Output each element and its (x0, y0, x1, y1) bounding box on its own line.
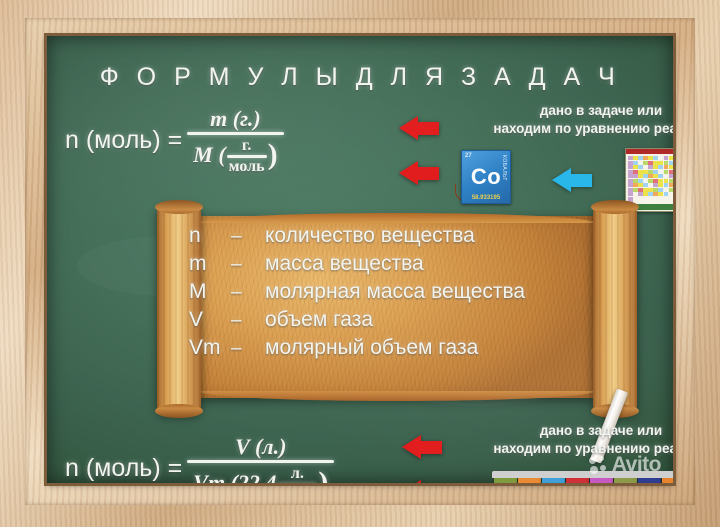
periodic-table-cell (643, 179, 648, 183)
periodic-table-cell (664, 197, 669, 201)
periodic-table-cell (638, 183, 643, 187)
periodic-table-cell (658, 188, 663, 192)
arrow-shaft (417, 167, 439, 180)
standards-block: T (518, 476, 541, 483)
legend-symbol: m (189, 252, 231, 276)
periodic-table-cell (643, 188, 648, 192)
periodic-table-cell (633, 197, 638, 201)
periodic-table-cell (648, 161, 653, 165)
standards-block: D (590, 476, 613, 483)
formula-bottom-lhs: n (моль) (65, 454, 161, 483)
legend-symbol: M (189, 280, 231, 304)
legend-row: M–молярная масса вещества (189, 280, 609, 308)
arrow-left-blue-icon (552, 168, 592, 193)
symbol-legend: n–количество веществаm–масса веществаM–м… (189, 224, 609, 364)
avito-wordmark: Avito (612, 453, 661, 477)
formula-top-denominator: M ( г. моль ) (187, 135, 283, 174)
cobalt-symbol: Co (462, 164, 510, 190)
periodic-table-cell (669, 165, 673, 169)
periodic-table-cell (664, 174, 669, 178)
avito-watermark: Avito (589, 453, 661, 477)
periodic-table-cell (669, 174, 673, 178)
legend-row: m–масса вещества (189, 252, 609, 280)
periodic-table-cell (638, 192, 643, 196)
periodic-table-cell (628, 170, 633, 174)
periodic-table-cell (643, 183, 648, 187)
cobalt-atomic-number: 27 (465, 153, 472, 159)
periodic-table-cell (648, 192, 653, 196)
formula-top-den-prefix: M ( (193, 144, 225, 166)
periodic-table-cell (633, 183, 638, 187)
legend-row: n–количество вещества (189, 224, 609, 252)
periodic-table-cell (658, 156, 663, 160)
periodic-table-cell (653, 192, 658, 196)
periodic-table-cell (633, 188, 638, 192)
legend-definition: молярный объем газа (265, 336, 478, 360)
periodic-table-cell (653, 161, 658, 165)
formula-bottom-fraction: V (л.) Vm (22,4 л. моль ) (187, 436, 334, 483)
periodic-table-cell (638, 174, 643, 178)
periodic-table-title-bar (626, 149, 673, 154)
legend-definition: масса вещества (265, 252, 424, 276)
periodic-table-cell (648, 156, 653, 160)
arrow-head (399, 161, 418, 185)
standards-block: N (566, 476, 589, 483)
periodic-table-cell (628, 192, 633, 196)
periodic-table-cell (664, 156, 669, 160)
legend-symbol: n (189, 224, 231, 248)
cobalt-atomic-mass: 58.933195 (462, 195, 510, 201)
standards-block: A (542, 476, 565, 483)
periodic-table-cell (633, 179, 638, 183)
periodic-table-cell (669, 192, 673, 196)
periodic-table-cell (664, 183, 669, 187)
periodic-table-cell (633, 174, 638, 178)
legend-symbol: Vm (189, 336, 231, 360)
periodic-table-cell (638, 188, 643, 192)
arrow-head (552, 168, 571, 192)
formula-bottom-equals: = (168, 454, 183, 483)
cobalt-element-tile: 27 КОБАЛЬТ Co 58.933195 (461, 150, 511, 204)
periodic-table-cell (648, 170, 653, 174)
periodic-table-cell (653, 188, 658, 192)
periodic-table-cell (633, 170, 638, 174)
formula-top-equals: = (168, 126, 183, 155)
periodic-table-cell (664, 192, 669, 196)
periodic-table-cell (658, 165, 663, 169)
periodic-table-cell (653, 197, 658, 201)
periodic-table-cell (638, 170, 643, 174)
standards-block: A (614, 476, 637, 483)
periodic-table-cell (643, 174, 648, 178)
periodic-table-cell (664, 170, 669, 174)
arrow-left-red-icon (402, 480, 442, 483)
periodic-table-cell (628, 188, 633, 192)
periodic-table-cell (643, 192, 648, 196)
legend-row: V–объем газа (189, 308, 609, 336)
periodic-table-cell (648, 179, 653, 183)
periodic-table-cell (648, 188, 653, 192)
arrow-left-red-icon (399, 161, 439, 186)
periodic-table-cell (669, 161, 673, 165)
periodic-table-cell (669, 170, 673, 174)
standards-letter-blocks: STANDARDS (494, 476, 673, 483)
formula-bottom-numerator: V (л.) (227, 436, 294, 460)
formula-top-unit-fraction: г. моль (227, 138, 267, 175)
note-top-line-2: находим по уравнению реакции (451, 120, 673, 138)
periodic-table-cell (664, 161, 669, 165)
legend-row: Vm–молярный объем газа (189, 336, 609, 364)
page-title: Ф О Р М У Л Ы Д Л Я З А Д А Ч (47, 63, 673, 92)
periodic-table-cell (633, 192, 638, 196)
periodic-table-cell (653, 183, 658, 187)
formula-bottom-den-prefix: Vm (22,4 (193, 472, 276, 483)
arrow-shaft (417, 122, 439, 135)
periodic-table-cell (643, 197, 648, 201)
periodic-table-cell (648, 165, 653, 169)
legend-symbol: V (189, 308, 231, 332)
periodic-table-cell (669, 197, 673, 201)
periodic-table-cell (643, 156, 648, 160)
periodic-table-cell (653, 156, 658, 160)
periodic-table-cell (628, 174, 633, 178)
standards-block: S (494, 476, 517, 483)
periodic-table-cell (658, 161, 663, 165)
formula-top-unit-denominator: моль (227, 158, 267, 175)
periodic-table-cell (658, 197, 663, 201)
arrow-shaft (420, 441, 442, 454)
periodic-table-cell (648, 174, 653, 178)
arrow-left-red-icon (402, 435, 442, 460)
periodic-table-cell (653, 170, 658, 174)
periodic-table-cell (653, 165, 658, 169)
periodic-table-cell (658, 174, 663, 178)
formula-bottom-unit-fraction: л. моль (277, 466, 317, 483)
note-top-line-1: дано в задаче или (451, 102, 673, 120)
legend-dash: – (231, 338, 265, 360)
periodic-table-cell (633, 161, 638, 165)
legend-dash: – (231, 282, 265, 304)
arrow-shaft (570, 174, 592, 187)
arrow-head (402, 435, 421, 459)
periodic-table-cell (638, 165, 643, 169)
periodic-table-cell (669, 188, 673, 192)
periodic-table-cell (648, 183, 653, 187)
legend-definition: количество вещества (265, 224, 475, 248)
legend-dash: – (231, 226, 265, 248)
standards-block: D (662, 476, 673, 483)
legend-definition: объем газа (265, 308, 373, 332)
formula-bottom-denominator: Vm (22,4 л. моль ) (187, 463, 334, 483)
periodic-table-cell (658, 179, 663, 183)
periodic-table-cell (669, 179, 673, 183)
periodic-table-cell (643, 161, 648, 165)
formula-mole-from-mass: n (моль) = m (г.) M ( г. моль ) (65, 108, 284, 174)
periodic-table-cell (653, 174, 658, 178)
legend-dash: – (231, 310, 265, 332)
periodic-table-cell (638, 156, 643, 160)
periodic-table-cell (669, 156, 673, 160)
formula-top-unit-numerator: г. (239, 138, 254, 155)
periodic-table-cell (628, 179, 633, 183)
periodic-table-cell (658, 183, 663, 187)
periodic-table-cell (664, 165, 669, 169)
arrow-left-red-icon (399, 116, 439, 141)
formula-mole-from-volume: n (моль) = V (л.) Vm (22,4 л. моль ) (65, 436, 334, 483)
periodic-table-cell (653, 179, 658, 183)
arrow-head (399, 116, 418, 140)
periodic-table-cell (658, 170, 663, 174)
blackboard-surface: Ф О Р М У Л Ы Д Л Я З А Д А Ч n (моль) =… (47, 36, 673, 483)
note-top: дано в задаче или находим по уравнению р… (451, 102, 673, 138)
legend-dash: – (231, 254, 265, 276)
arrow-head (402, 480, 421, 483)
periodic-table-cell (643, 170, 648, 174)
periodic-table-cell (638, 179, 643, 183)
periodic-table-cell (628, 183, 633, 187)
periodic-table-cell (664, 179, 669, 183)
periodic-table-cell (669, 183, 673, 187)
periodic-table-cell (658, 192, 663, 196)
slide-image: Ф О Р М У Л Ы Д Л Я З А Д А Ч n (моль) =… (0, 0, 720, 527)
periodic-table-cell (638, 161, 643, 165)
legend-definition: молярная масса вещества (265, 280, 525, 304)
formula-top-fraction: m (г.) M ( г. моль ) (187, 108, 283, 174)
formula-top-numerator: m (г.) (202, 108, 269, 132)
periodic-table-cell (638, 197, 643, 201)
avito-dots-icon (589, 456, 608, 475)
periodic-table-cell (648, 197, 653, 201)
periodic-table-cell (628, 156, 633, 160)
formula-bottom-den-suffix: ) (318, 468, 328, 483)
periodic-table-cell (628, 161, 633, 165)
periodic-table-cell (628, 165, 633, 169)
periodic-table-cell (643, 165, 648, 169)
formula-bottom-unit-numerator: л. (288, 466, 307, 483)
note-bottom-line-1: дано в задаче или (451, 422, 673, 440)
standards-block: R (638, 476, 661, 483)
formula-top-den-suffix: ) (268, 140, 278, 170)
periodic-table-cell (628, 197, 633, 201)
periodic-table-cell (664, 188, 669, 192)
periodic-table-cell (633, 165, 638, 169)
formula-top-lhs: n (моль) (65, 126, 161, 155)
periodic-table-cell (633, 156, 638, 160)
periodic-table-grid (628, 156, 673, 203)
